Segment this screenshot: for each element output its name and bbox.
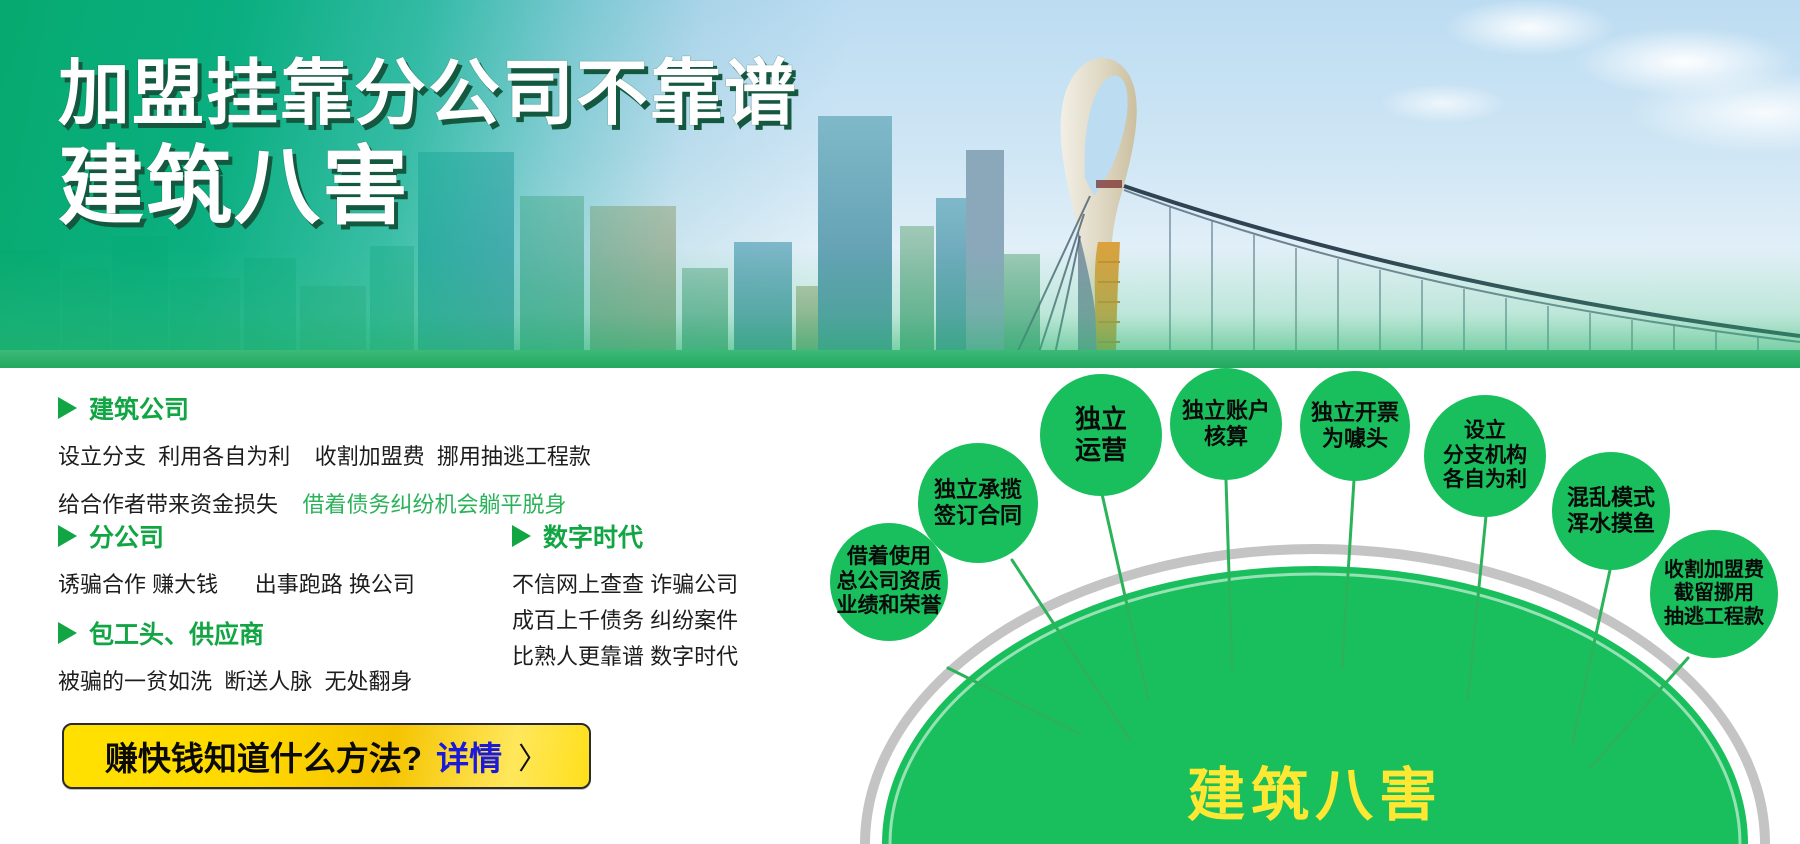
bubble-item: 独立 运营: [1040, 374, 1162, 496]
section-heading-branch: 分公司: [58, 518, 415, 554]
section-company-line2-green: 借着债务纠纷机会躺平脱身: [302, 492, 566, 517]
hero-banner: 加盟挂靠分公司不靠谱 建筑八害: [0, 0, 1800, 368]
bubble-item: 独立账户 核算: [1170, 368, 1282, 480]
section-heading-digital-label: 数字时代: [543, 518, 643, 554]
page-title: 加盟挂靠分公司不靠谱 建筑八害: [58, 56, 798, 233]
section-digital-era: 数字时代 不信网上查查 诈骗公司 成百上千债务 纠纷案件 比熟人更靠谱 数字时代: [512, 518, 738, 674]
hero-title-line2: 建筑八害: [58, 142, 798, 233]
section-heading-contractor-label: 包工头、供应商: [89, 615, 264, 651]
bubble-item: 收割加盟费 截留挪用 抽逃工程款: [1650, 530, 1778, 658]
triangle-bullet-icon: [58, 397, 77, 419]
section-heading-branch-label: 分公司: [89, 518, 164, 554]
section-heading-digital: 数字时代: [512, 518, 738, 554]
bubble-item: 设立 分支机构 各自为利: [1424, 395, 1546, 517]
triangle-bullet-icon: [58, 622, 77, 644]
section-contractor-line1: 被骗的一贫如洗 断送人脉 无处翻身: [58, 665, 412, 699]
section-branch-company: 分公司 诱骗合作 赚大钱 出事跑路 换公司: [58, 518, 415, 602]
section-digital-line1: 不信网上查查 诈骗公司: [512, 568, 738, 602]
poster-root: 加盟挂靠分公司不靠谱 建筑八害 建筑公司 设立分支 利用各自为利 收割加盟费 挪…: [0, 0, 1800, 844]
section-construction-company: 建筑公司 设立分支 利用各自为利 收割加盟费 挪用抽逃工程款 给合作者带来资金损…: [58, 390, 591, 522]
hero-baseline: [0, 350, 1800, 368]
section-company-line1: 设立分支 利用各自为利 收割加盟费 挪用抽逃工程款: [58, 440, 591, 474]
left-content-panel: 建筑公司 设立分支 利用各自为利 收割加盟费 挪用抽逃工程款 给合作者带来资金损…: [0, 368, 830, 844]
eight-harms-diagram: 建筑八害 借着使用 总公司资质 业绩和荣誉独立承揽 签订合同独立 运营独立账户 …: [830, 368, 1800, 844]
section-branch-line1: 诱骗合作 赚大钱 出事跑路 换公司: [58, 568, 415, 602]
bubble-item: 独立承揽 签订合同: [918, 443, 1038, 563]
section-contractor-supplier: 包工头、供应商 被骗的一贫如洗 断送人脉 无处翻身: [58, 615, 412, 699]
cta-question-label: 赚快钱知道什么方法?: [105, 732, 422, 780]
section-heading-contractor: 包工头、供应商: [58, 615, 412, 651]
triangle-bullet-icon: [512, 525, 531, 547]
section-heading-company-label: 建筑公司: [89, 390, 189, 426]
section-digital-line2: 成百上千债务 纠纷案件: [512, 604, 738, 638]
bubble-item: 借着使用 总公司资质 业绩和荣誉: [830, 523, 948, 641]
section-company-line2-black: 给合作者带来资金损失: [58, 492, 302, 517]
cta-detail-link[interactable]: 详情: [436, 732, 502, 780]
cta-button[interactable]: 赚快钱知道什么方法? 详情 〉: [62, 723, 591, 789]
section-heading-company: 建筑公司: [58, 390, 591, 426]
chevron-right-icon: 〉: [518, 734, 548, 778]
section-digital-line3: 比熟人更靠谱 数字时代: [512, 640, 738, 674]
triangle-bullet-icon: [58, 525, 77, 547]
hero-title-line1: 加盟挂靠分公司不靠谱: [58, 56, 798, 132]
bubble-item: 混乱模式 浑水摸鱼: [1552, 452, 1670, 570]
bubble-item: 独立开票 为噱头: [1300, 371, 1410, 481]
